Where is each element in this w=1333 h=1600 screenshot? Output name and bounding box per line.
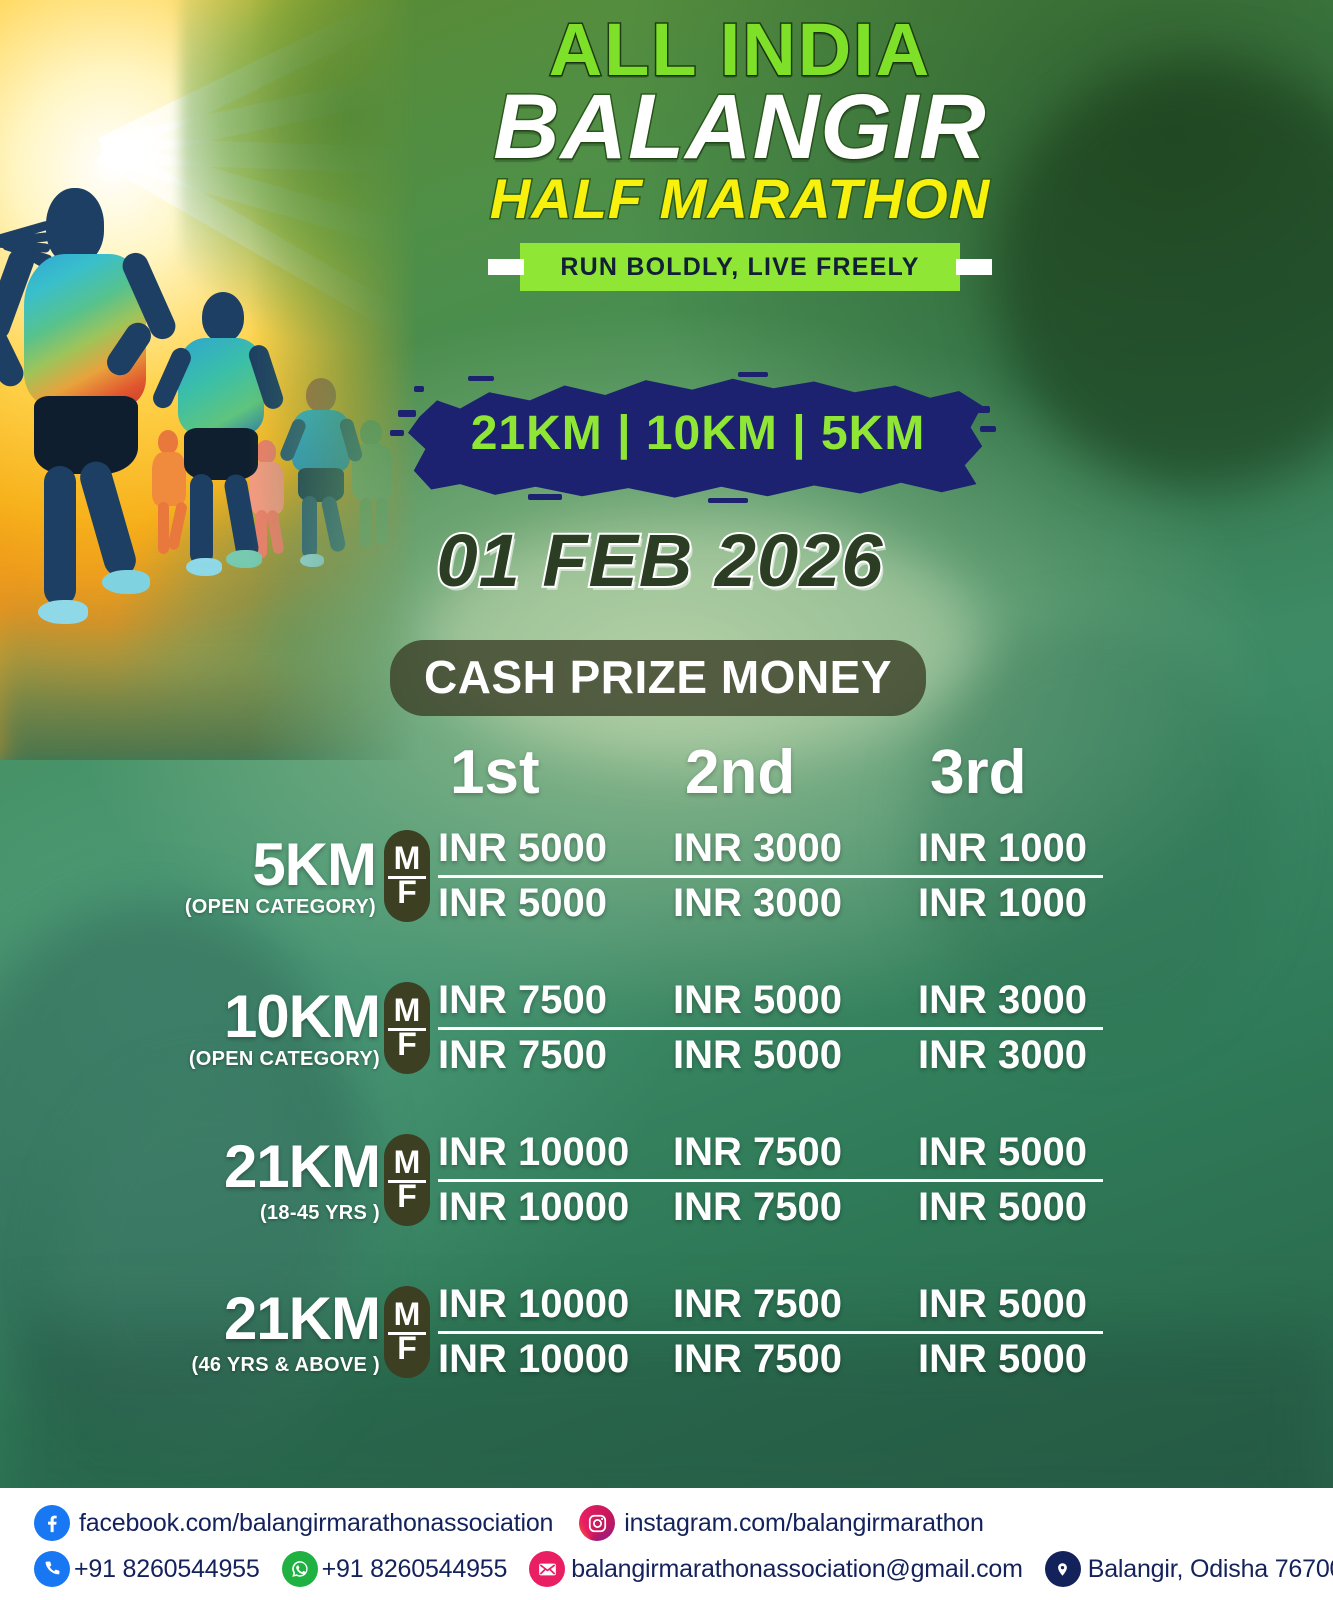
phone-number: +91 8260544955 [74, 1555, 260, 1584]
prize-table-header: 1st 2nd 3rd [150, 742, 1150, 804]
row-distance-label: 5KM (OPEN CATEGORY) [150, 835, 382, 917]
event-date: 01 FEB 2026 [380, 518, 940, 603]
badge-male: M [394, 1298, 421, 1332]
gender-row-divider [438, 1179, 1103, 1182]
row-values: INR 10000 INR 7500 INR 5000 INR 10000 IN… [438, 1129, 1150, 1230]
female-values: INR 7500 INR 5000 INR 3000 [438, 1032, 1150, 1079]
distances-banner: 21KM | 10KM | 5KM [408, 368, 988, 503]
badge-female: F [397, 876, 417, 910]
title-all-india: ALL INDIA [390, 0, 1090, 85]
badge-separator [388, 1332, 426, 1335]
instagram-icon [579, 1505, 615, 1541]
male-values: INR 10000 INR 7500 INR 5000 [438, 1129, 1150, 1176]
cash-prize-heading-text: CASH PRIZE MONEY [424, 651, 892, 703]
table-row: 21KM (46 YRS & ABOVE ) M F INR 10000 INR… [150, 1274, 1150, 1390]
headline-block: ALL INDIA BALANGIR HALF MARATHON RUN BOL… [390, 0, 1090, 291]
whatsapp-icon [282, 1551, 318, 1587]
female-values: INR 10000 INR 7500 INR 5000 [438, 1336, 1150, 1383]
female-prize-2nd: INR 5000 [673, 1032, 918, 1079]
male-prize-1st: INR 10000 [438, 1281, 673, 1328]
badge-separator [388, 1180, 426, 1183]
tagline-row: RUN BOLDLY, LIVE FREELY [470, 243, 1010, 291]
male-prize-2nd: INR 3000 [673, 825, 918, 872]
facebook-url: facebook.com/balangirmarathonassociation [79, 1509, 553, 1538]
badge-separator [388, 1028, 426, 1031]
contact-footer: facebook.com/balangirmarathonassociation… [0, 1488, 1333, 1600]
table-row: 5KM (OPEN CATEGORY) M F INR 5000 INR 300… [150, 818, 1150, 934]
column-header-1st: 1st [450, 742, 685, 804]
title-half-marathon: HALF MARATHON [390, 171, 1090, 227]
instagram-link[interactable]: instagram.com/balangirmarathon [579, 1505, 983, 1541]
row-category: (OPEN CATEGORY) [150, 897, 376, 917]
row-distance: 21KM [150, 1137, 380, 1197]
email-address: balangirmarathonassociation@gmail.com [571, 1555, 1023, 1584]
gender-badge: M F [384, 982, 430, 1074]
tagline-text: RUN BOLDLY, LIVE FREELY [560, 253, 919, 282]
male-prize-3rd: INR 1000 [918, 825, 1138, 872]
male-prize-3rd: INR 5000 [918, 1129, 1138, 1176]
email-icon [529, 1551, 565, 1587]
female-prize-3rd: INR 5000 [918, 1184, 1138, 1231]
male-values: INR 10000 INR 7500 INR 5000 [438, 1281, 1150, 1328]
prize-table: 1st 2nd 3rd 5KM (OPEN CATEGORY) M F INR … [150, 742, 1150, 1426]
column-header-2nd: 2nd [685, 742, 930, 804]
male-prize-2nd: INR 7500 [673, 1281, 918, 1328]
instagram-url: instagram.com/balangirmarathon [624, 1509, 983, 1538]
row-distance-label: 10KM (OPEN CATEGORY) [150, 987, 382, 1069]
badge-male: M [394, 1146, 421, 1180]
gender-row-divider [438, 875, 1103, 878]
row-values: INR 10000 INR 7500 INR 5000 INR 10000 IN… [438, 1281, 1150, 1382]
badge-male: M [394, 842, 421, 876]
row-distance: 10KM [150, 987, 380, 1047]
runners-illustration [0, 0, 430, 760]
female-values: INR 5000 INR 3000 INR 1000 [438, 880, 1150, 927]
female-prize-2nd: INR 7500 [673, 1184, 918, 1231]
tagline-banner: RUN BOLDLY, LIVE FREELY [520, 243, 960, 291]
location-pin-icon [1045, 1551, 1081, 1587]
footer-row-social: facebook.com/balangirmarathonassociation… [0, 1500, 1333, 1546]
gender-badge: M F [384, 1286, 430, 1378]
female-prize-2nd: INR 3000 [673, 880, 918, 927]
female-prize-3rd: INR 1000 [918, 880, 1138, 927]
male-prize-1st: INR 5000 [438, 825, 673, 872]
female-prize-3rd: INR 3000 [918, 1032, 1138, 1079]
row-category: (46 YRS & ABOVE ) [150, 1355, 380, 1375]
female-prize-1st: INR 10000 [438, 1184, 673, 1231]
female-prize-1st: INR 5000 [438, 880, 673, 927]
badge-female: F [397, 1332, 417, 1366]
location-contact[interactable]: Balangir, Odisha 767002 [1045, 1551, 1333, 1587]
female-prize-3rd: INR 5000 [918, 1336, 1138, 1383]
badge-female: F [397, 1180, 417, 1214]
gender-row-divider [438, 1027, 1103, 1030]
female-values: INR 10000 INR 7500 INR 5000 [438, 1184, 1150, 1231]
badge-female: F [397, 1028, 417, 1062]
female-prize-1st: INR 10000 [438, 1336, 673, 1383]
distances-text: 21KM | 10KM | 5KM [408, 368, 988, 503]
row-distance-label: 21KM (46 YRS & ABOVE ) [150, 1289, 382, 1375]
row-category: (OPEN CATEGORY) [150, 1049, 380, 1069]
title-balangir: BALANGIR [390, 81, 1090, 173]
male-prize-1st: INR 7500 [438, 977, 673, 1024]
row-category: (18-45 YRS ) [150, 1203, 380, 1223]
row-distance: 5KM [150, 835, 376, 895]
gender-badge: M F [384, 830, 430, 922]
email-contact[interactable]: balangirmarathonassociation@gmail.com [529, 1551, 1023, 1587]
female-prize-1st: INR 7500 [438, 1032, 673, 1079]
male-prize-3rd: INR 5000 [918, 1281, 1138, 1328]
row-values: INR 7500 INR 5000 INR 3000 INR 7500 INR … [438, 977, 1150, 1078]
tagline-endcap-left [488, 259, 524, 275]
facebook-link[interactable]: facebook.com/balangirmarathonassociation [34, 1505, 553, 1541]
whatsapp-number: +91 8260544955 [322, 1555, 508, 1584]
table-row: 10KM (OPEN CATEGORY) M F INR 7500 INR 50… [150, 970, 1150, 1086]
male-prize-2nd: INR 5000 [673, 977, 918, 1024]
phone-contact[interactable]: +91 8260544955 [34, 1551, 260, 1587]
female-prize-2nd: INR 7500 [673, 1336, 918, 1383]
male-prize-2nd: INR 7500 [673, 1129, 918, 1176]
male-prize-3rd: INR 3000 [918, 977, 1138, 1024]
badge-male: M [394, 994, 421, 1028]
table-row: 21KM (18-45 YRS ) M F INR 10000 INR 7500… [150, 1122, 1150, 1238]
row-values: INR 5000 INR 3000 INR 1000 INR 5000 INR … [438, 825, 1150, 926]
gender-badge: M F [384, 1134, 430, 1226]
male-values: INR 5000 INR 3000 INR 1000 [438, 825, 1150, 872]
marathon-poster: ALL INDIA BALANGIR HALF MARATHON RUN BOL… [0, 0, 1333, 1600]
column-header-3rd: 3rd [930, 742, 1150, 804]
gender-row-divider [438, 1331, 1103, 1334]
male-prize-1st: INR 10000 [438, 1129, 673, 1176]
whatsapp-contact[interactable]: +91 8260544955 [282, 1551, 508, 1587]
row-distance-label: 21KM (18-45 YRS ) [150, 1137, 382, 1223]
cash-prize-heading: CASH PRIZE MONEY [390, 640, 926, 716]
male-values: INR 7500 INR 5000 INR 3000 [438, 977, 1150, 1024]
footer-row-contact: +91 8260544955 +91 8260544955 [0, 1546, 1333, 1592]
tagline-endcap-right [956, 259, 992, 275]
facebook-icon [34, 1505, 70, 1541]
phone-icon [34, 1551, 70, 1587]
badge-separator [388, 876, 426, 879]
row-distance: 21KM [150, 1289, 380, 1349]
location-address: Balangir, Odisha 767002 [1088, 1555, 1333, 1584]
